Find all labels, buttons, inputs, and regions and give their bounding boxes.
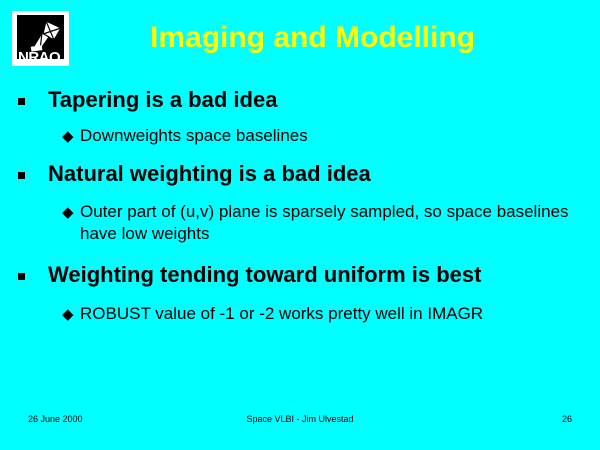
- nrao-logo: NRAO: [12, 11, 69, 66]
- square-bullet-icon: [18, 98, 25, 105]
- bullet-level1: Weighting tending toward uniform is best: [0, 261, 600, 288]
- footer-title: Space VLBI - Jim Ulvestad: [0, 414, 600, 424]
- slide-body: Tapering is a bad idea ◆ Downweights spa…: [0, 86, 600, 325]
- bullet-level2: ◆ Downweights space baselines: [0, 125, 600, 147]
- diamond-bullet-icon: ◆: [62, 204, 74, 221]
- radio-telescope-dish-icon: [30, 19, 62, 53]
- logo-wordmark: NRAO: [18, 50, 60, 65]
- slide-title: Imaging and Modelling: [150, 20, 475, 56]
- diamond-bullet-icon: ◆: [62, 306, 74, 323]
- footer-page-number: 26: [562, 414, 572, 424]
- bullet-level1-label: Natural weighting is a bad idea: [48, 161, 371, 186]
- spacer: [0, 113, 600, 125]
- spacer: [0, 187, 600, 201]
- bullet-level2-label: Outer part of (u,v) plane is sparsely sa…: [80, 202, 569, 243]
- bullet-level1: Tapering is a bad idea: [0, 86, 600, 113]
- bullet-level2: ◆ Outer part of (u,v) plane is sparsely …: [0, 201, 600, 245]
- square-bullet-icon: [18, 273, 25, 280]
- bullet-level1-label: Tapering is a bad idea: [48, 87, 277, 112]
- bullet-level2-label: Downweights space baselines: [80, 126, 308, 145]
- spacer: [0, 288, 600, 303]
- bullet-level2: ◆ ROBUST value of -1 or -2 works pretty …: [0, 303, 600, 325]
- spacer: [0, 245, 600, 261]
- diamond-bullet-icon: ◆: [62, 128, 74, 145]
- spacer: [0, 147, 600, 160]
- slide-footer: 26 June 2000 Space VLBI - Jim Ulvestad 2…: [0, 414, 600, 432]
- bullet-level1: Natural weighting is a bad idea: [0, 160, 600, 187]
- square-bullet-icon: [18, 172, 25, 179]
- bullet-level2-label: ROBUST value of -1 or -2 works pretty we…: [80, 304, 483, 323]
- bullet-level1-label: Weighting tending toward uniform is best: [48, 262, 481, 287]
- slide: NRAO Imaging and Modelling Tapering is a…: [0, 0, 600, 450]
